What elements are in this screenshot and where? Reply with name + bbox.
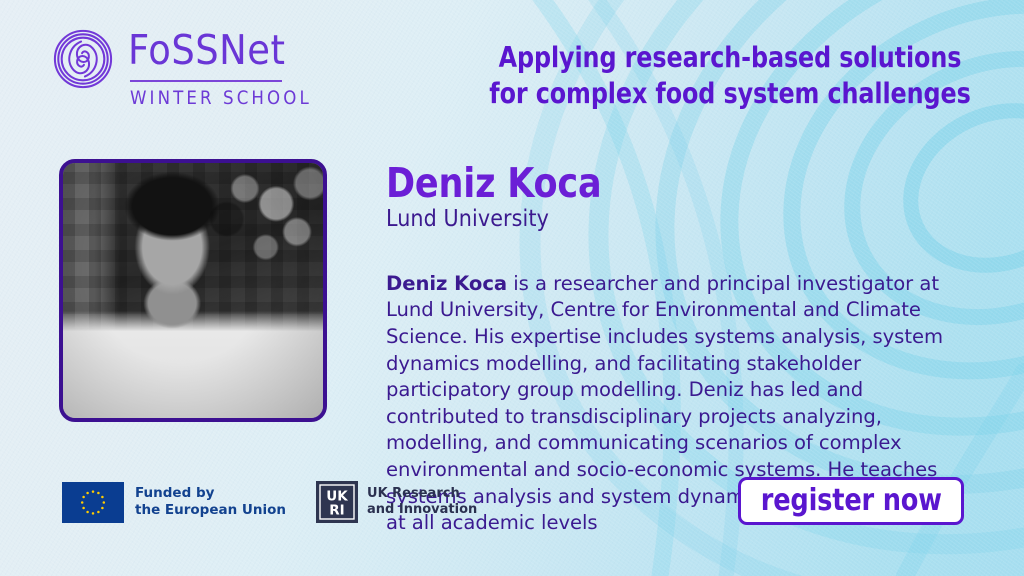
funder-european-union: Funded by the European Union (62, 482, 286, 523)
funder-logos: Funded by the European Union UK RI UK Re… (62, 481, 477, 523)
ukri-funding-label: UK Research and Innovation (367, 486, 477, 519)
eu-funding-label: Funded by the European Union (135, 485, 286, 519)
ukri-funding-line-1: UK Research (367, 486, 477, 502)
event-title: Applying research-based solutions for co… (488, 40, 972, 112)
eu-flag-icon (62, 482, 124, 523)
ukri-monogram-bottom: RI (329, 502, 344, 518)
register-now-label: register now (761, 486, 942, 516)
event-title-line-1: Applying research-based solutions (488, 40, 972, 76)
event-title-line-2: for complex food system challenges (488, 76, 972, 112)
photo-vignette (63, 163, 323, 418)
brand-logo: FoSSNet WINTER SCHOOL (52, 28, 312, 109)
ukri-logo-icon: UK RI (316, 481, 358, 523)
eu-funding-line-1: Funded by (135, 485, 286, 502)
brand-name: FoSSNet (128, 30, 312, 71)
brand-subtitle: WINTER SCHOOL (130, 88, 312, 109)
register-now-button[interactable]: register now (738, 477, 964, 525)
speaker-bio-lead: Deniz Koca (386, 272, 507, 295)
speaker-name: Deniz Koca (386, 163, 601, 204)
speaker-photo-frame (59, 159, 327, 422)
brand-divider (130, 80, 282, 82)
ukri-funding-line-2: and Innovation (367, 502, 477, 518)
speaker-affiliation: Lund University (386, 208, 549, 231)
eu-funding-line-2: the European Union (135, 502, 286, 519)
funder-ukri: UK RI UK Research and Innovation (316, 481, 477, 523)
fingerprint-spiral-icon (52, 28, 114, 90)
brand-wordmark: FoSSNet WINTER SCHOOL (128, 28, 312, 109)
poster-canvas: FoSSNet WINTER SCHOOL Applying research-… (0, 0, 1024, 576)
